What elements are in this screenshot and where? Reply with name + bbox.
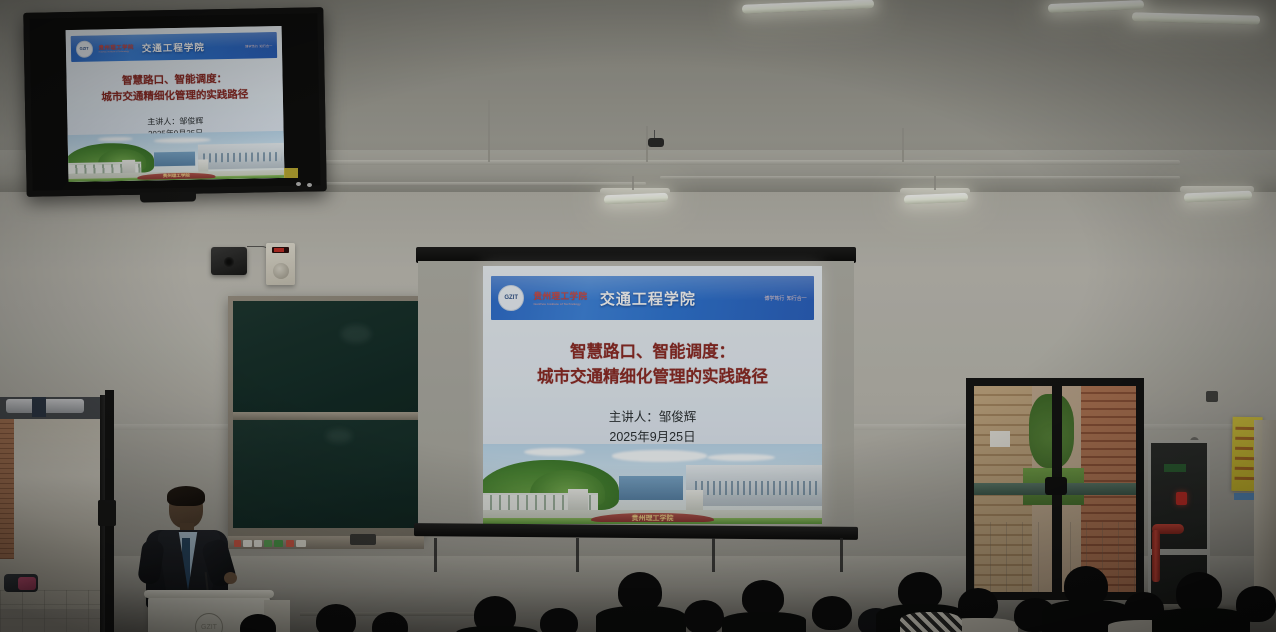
university-crest-icon: GZIT — [498, 285, 524, 311]
audience-shoulders — [456, 626, 538, 632]
presenter-line: 主讲人：邹俊辉 — [483, 407, 822, 427]
chalk-piece — [243, 540, 252, 547]
panel-display-icon — [272, 247, 289, 253]
wall-mounted-display[interactable]: GZIT 贵州理工学院 Guizhou Institute of Technol… — [23, 7, 326, 197]
audience-head — [316, 604, 356, 632]
conduit-dropper — [488, 100, 490, 162]
screen-hanging-rod — [712, 538, 715, 572]
campus-building — [619, 476, 683, 500]
lamp-hanger — [632, 176, 634, 190]
ceiling-conduit — [660, 176, 1180, 179]
wall-sensor-icon — [1206, 391, 1218, 402]
presenter-hand — [224, 572, 237, 584]
slide-title-line2: 城市交通精细化管理的实践路径 — [67, 87, 283, 107]
conduit-dropper — [902, 128, 904, 162]
university-name-cn: 贵州理工学院 — [98, 43, 134, 52]
backpack — [18, 577, 36, 590]
department-name: 交通工程学院 — [600, 288, 696, 309]
podium-top — [144, 590, 274, 598]
slide-banner: GZIT 贵州理工学院 Guizhou Institute of Technol… — [491, 276, 813, 320]
lamp-hanger — [934, 176, 936, 190]
chalk-piece — [254, 540, 262, 547]
door-handle-icon[interactable] — [1045, 477, 1067, 495]
campus-photo: 贵州理工学院 — [483, 444, 822, 524]
tiled-floor — [0, 590, 105, 632]
campus-building — [154, 151, 195, 166]
wall-control-panel[interactable] — [266, 243, 295, 285]
green-chalkboard — [228, 296, 424, 537]
chalk-piece — [264, 540, 272, 547]
slide-title-line1: 智慧路口、智能调度： — [483, 340, 822, 365]
campus-stone-text: 贵州理工学院 — [163, 173, 190, 179]
glass-exit-door[interactable] — [966, 378, 1144, 600]
university-crest-icon: GZIT — [76, 40, 93, 57]
slide-subtitle: 主讲人：邹俊辉 2025年9月25日 — [483, 407, 822, 447]
campus-stone-sign: 贵州理工学院 — [591, 513, 713, 523]
audience-shoulders — [900, 612, 962, 632]
banner-motto: 博学笃行 知行合一 — [245, 43, 272, 49]
screen-hanging-rod — [434, 538, 437, 572]
tv-indicator-icon — [307, 183, 312, 187]
chalkboard-lower-pane — [233, 420, 419, 529]
blue-wall-label — [1234, 493, 1256, 500]
pull-down-projection-screen: GZIT 贵州理工学院 Guizhou Institute of Technol… — [416, 247, 856, 547]
motto-right: 知行合一 — [259, 43, 272, 48]
motto-left: 博学笃行 — [764, 295, 784, 302]
university-emblem-icon: GZIT — [195, 613, 223, 632]
outside-sign — [990, 431, 1010, 447]
panel-knob-icon[interactable] — [273, 263, 289, 279]
tv-indicator-icon — [296, 182, 301, 186]
chalk-piece — [296, 540, 306, 547]
chalkboard-upper-pane — [233, 301, 419, 412]
tv-mount-bracket — [140, 191, 196, 202]
status-indicator-icon — [1176, 492, 1187, 505]
campus-stone-text: 贵州理工学院 — [631, 513, 673, 522]
wall-speaker — [211, 247, 247, 275]
slide-banner: GZIT 贵州理工学院 Guizhou Institute of Technol… — [71, 33, 277, 63]
university-name-en: Guizhou Institute of Technology — [533, 302, 587, 305]
lecture-hall-scene: GZIT 贵州理工学院 Guizhou Institute of Technol… — [0, 0, 1276, 632]
slide-title: 智慧路口、智能调度： 城市交通精细化管理的实践路径 — [483, 340, 822, 390]
motto-left: 博学笃行 — [245, 43, 258, 48]
banner-motto: 博学笃行 知行合一 — [764, 295, 807, 302]
audience-head — [684, 600, 724, 632]
audience-head — [958, 588, 998, 622]
university-name: 贵州理工学院 Guizhou Institute of Technology — [533, 290, 587, 306]
chalkboard-divider — [233, 412, 419, 420]
audience-head — [1236, 586, 1276, 622]
audience-head — [742, 580, 784, 616]
screen-weight-bar — [414, 523, 858, 540]
projected-slide: GZIT 贵州理工学院 Guizhou Institute of Technol… — [483, 266, 822, 524]
door-handle-icon[interactable] — [98, 500, 116, 526]
screen-hanging-rod — [576, 538, 579, 572]
university-name-cn: 贵州理工学院 — [533, 290, 587, 302]
chalk-piece — [286, 540, 294, 547]
tv-sticker — [284, 168, 298, 178]
ceiling-camera — [648, 138, 664, 147]
fire-pipe — [1152, 530, 1160, 582]
corridor-doorway[interactable] — [0, 397, 112, 632]
audience-head — [540, 608, 578, 632]
department-name: 交通工程学院 — [142, 40, 205, 55]
slide: GZIT 贵州理工学院 Guizhou Institute of Technol… — [483, 266, 822, 524]
exit-sign-icon — [1164, 464, 1186, 472]
campus-building — [197, 143, 284, 169]
slide-title: 智慧路口、智能调度： 城市交通精细化管理的实践路径 — [66, 71, 283, 107]
motto-right: 知行合一 — [787, 295, 807, 302]
presenter-hair — [167, 486, 205, 506]
window-curtain — [1254, 420, 1276, 610]
tv-panel: GZIT 贵州理工学院 Guizhou Institute of Technol… — [66, 26, 285, 182]
university-name: 贵州理工学院 Guizhou Institute of Technology — [98, 43, 134, 54]
campus-photo: 贵州理工学院 — [68, 131, 285, 182]
chalkboard-duster-box — [350, 534, 376, 545]
slide-mirror: GZIT 贵州理工学院 Guizhou Institute of Technol… — [66, 26, 285, 182]
audience-shoulders — [596, 606, 686, 632]
audience-shoulders — [1152, 608, 1250, 632]
chalk-piece — [274, 540, 283, 547]
audience-head — [812, 596, 852, 630]
campus-building — [686, 465, 822, 507]
slide-title-line2: 城市交通精细化管理的实践路径 — [483, 365, 822, 390]
screen-hanging-rod — [840, 538, 843, 572]
person-outside — [32, 397, 46, 417]
university-name-en: Guizhou Institute of Technology — [99, 51, 134, 53]
audience-shoulders — [722, 612, 806, 632]
brick-column — [0, 419, 14, 559]
